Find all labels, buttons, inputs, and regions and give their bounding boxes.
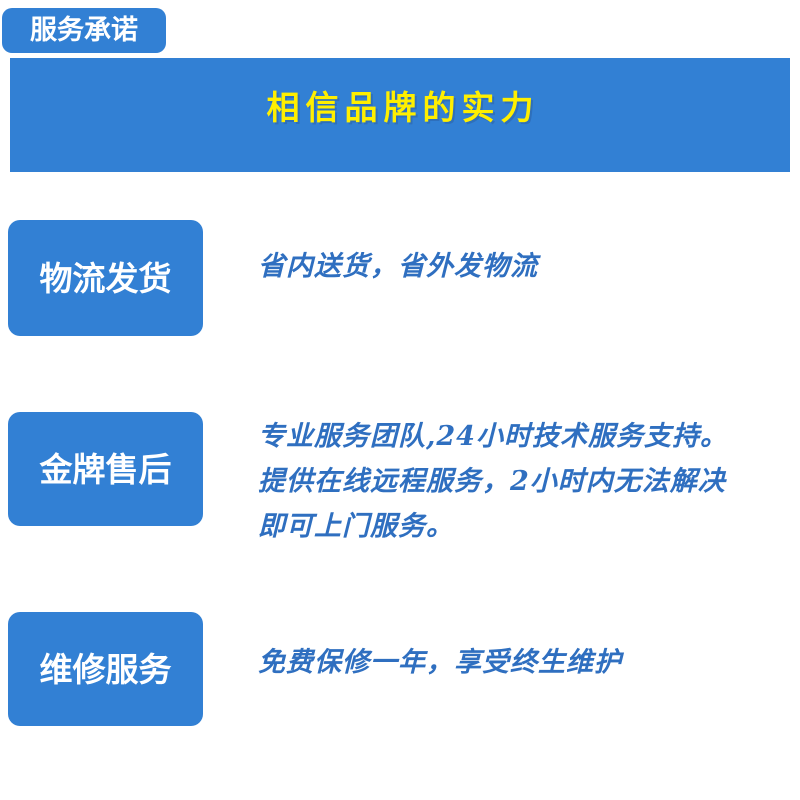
feature-row-logistics: 物流发货 省内送货，省外发物流 [0,220,800,336]
feature-tag-repair: 维修服务 [8,612,203,726]
hero-banner: 相信品牌的实力 [10,58,790,172]
feature-tag-label: 维修服务 [40,653,172,686]
section-badge-label: 服务承诺 [30,17,138,44]
feature-tag-logistics: 物流发货 [8,220,203,336]
feature-description-line: 即可上门服务。 [258,504,788,549]
feature-description-logistics: 省内送货，省外发物流 [258,244,788,289]
feature-description-line: 免费保修一年，享受终生维护 [258,640,788,685]
feature-tag-label: 物流发货 [40,262,172,295]
feature-description-line: 省内送货，省外发物流 [258,244,788,289]
section-badge: 服务承诺 [2,8,166,53]
feature-description-repair: 免费保修一年，享受终生维护 [258,640,788,685]
feature-row-after-sales: 金牌售后 专业服务团队,24小时技术服务支持。 提供在线远程服务，2小时内无法解… [0,412,800,526]
feature-description-line: 提供在线远程服务，2小时内无法解决 [258,459,788,504]
feature-row-repair: 维修服务 免费保修一年，享受终生维护 [0,612,800,726]
feature-description-after-sales: 专业服务团队,24小时技术服务支持。 提供在线远程服务，2小时内无法解决 即可上… [258,414,788,549]
service-commitment-banner: 服务承诺 相信品牌的实力 物流发货 省内送货，省外发物流 金牌售后 专业服务团队… [0,0,800,800]
feature-tag-after-sales: 金牌售后 [8,412,203,526]
feature-tag-label: 金牌售后 [40,453,172,486]
feature-description-line: 专业服务团队,24小时技术服务支持。 [258,414,788,459]
hero-banner-title: 相信品牌的实力 [10,88,790,128]
